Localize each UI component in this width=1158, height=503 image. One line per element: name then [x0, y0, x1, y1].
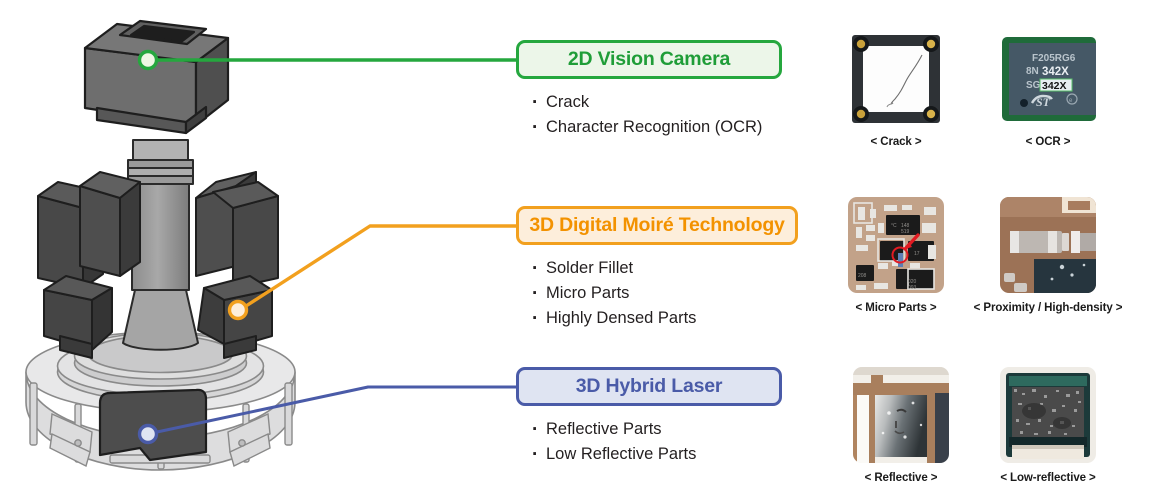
callout-laser-title: 3D Hybrid Laser [576, 375, 723, 398]
bullet-item: Reflective Parts [532, 417, 782, 442]
marker-dot-laser [140, 426, 157, 443]
svg-text:208: 208 [858, 273, 867, 279]
callout-moire-box[interactable]: 3D Digital Moiré Technology [516, 206, 798, 245]
thumbnail-low-reflective[interactable]: < Low-reflective > [1000, 367, 1096, 484]
thumbnail-proximity-caption: < Proximity / High-density > [966, 302, 1130, 314]
svg-text:F205RG6: F205RG6 [1032, 53, 1076, 64]
bullet-item: Highly Densed Parts [532, 306, 798, 331]
callout-vision-bullets: Crack Character Recognition (OCR) [516, 90, 782, 140]
bullet-item: Micro Parts [532, 281, 798, 306]
machine-laser-module [100, 390, 206, 460]
bullet-item: Character Recognition (OCR) [532, 115, 782, 140]
svg-text:093: 093 [908, 285, 917, 291]
thumbnail-reflective-image [853, 367, 949, 463]
svg-text:8N: 8N [1026, 66, 1039, 77]
thumbnail-reflective[interactable]: < Reflective > [853, 367, 949, 484]
diagram-canvas: 2D Vision Camera Crack Character Recogni… [0, 0, 1158, 503]
bullet-item: Low Reflective Parts [532, 442, 782, 467]
marker-dot-moire [230, 302, 247, 319]
svg-text:ST: ST [1036, 95, 1051, 109]
thumbnail-crack[interactable]: < Crack > [848, 31, 944, 148]
thumbnail-micro-parts[interactable]: °C 148 519 17 020 093 208 < Micro Parts … [848, 197, 944, 314]
svg-text:342X: 342X [1042, 80, 1067, 92]
thumbnail-crack-image [848, 31, 944, 127]
callout-moire-title: 3D Digital Moiré Technology [529, 214, 784, 237]
marker-dot-vision [140, 52, 157, 69]
svg-text:342X: 342X [1042, 66, 1069, 78]
thumbnail-proximity-image [1000, 197, 1096, 293]
thumbnail-ocr[interactable]: F205RG6 8N SGP 342X 342X ST e < OCR > [1000, 31, 1096, 148]
thumbnail-low-reflective-caption: < Low-reflective > [1000, 472, 1096, 484]
thumbnail-proximity[interactable]: < Proximity / High-density > [1000, 197, 1096, 314]
callout-moire-bullets: Solder Fillet Micro Parts Highly Densed … [516, 256, 798, 331]
thumbnail-low-reflective-image [1000, 367, 1096, 463]
thumbnail-reflective-caption: < Reflective > [853, 472, 949, 484]
aoi-machine-illustration [0, 0, 340, 503]
thumbnail-micro-parts-caption: < Micro Parts > [848, 302, 944, 314]
thumbnail-ocr-caption: < OCR > [1000, 136, 1096, 148]
svg-text:17: 17 [914, 251, 920, 257]
svg-text:519: 519 [901, 229, 910, 235]
callout-vision-title: 2D Vision Camera [568, 48, 730, 71]
svg-text:°C: °C [891, 223, 897, 229]
thumbnail-micro-parts-image: °C 148 519 17 020 093 208 [848, 197, 944, 293]
callout-vision-camera: 2D Vision Camera Crack Character Recogni… [516, 40, 782, 140]
thumbnail-crack-caption: < Crack > [848, 136, 944, 148]
callout-moire-technology: 3D Digital Moiré Technology Solder Fille… [516, 206, 798, 331]
bullet-item: Crack [532, 90, 782, 115]
callout-hybrid-laser: 3D Hybrid Laser Reflective Parts Low Ref… [516, 367, 782, 467]
callout-laser-bullets: Reflective Parts Low Reflective Parts [516, 417, 782, 467]
callout-vision-box[interactable]: 2D Vision Camera [516, 40, 782, 79]
bullet-item: Solder Fillet [532, 256, 798, 281]
callout-laser-box[interactable]: 3D Hybrid Laser [516, 367, 782, 406]
machine-camera-head [85, 21, 228, 133]
thumbnail-ocr-image: F205RG6 8N SGP 342X 342X ST e [1000, 31, 1096, 127]
